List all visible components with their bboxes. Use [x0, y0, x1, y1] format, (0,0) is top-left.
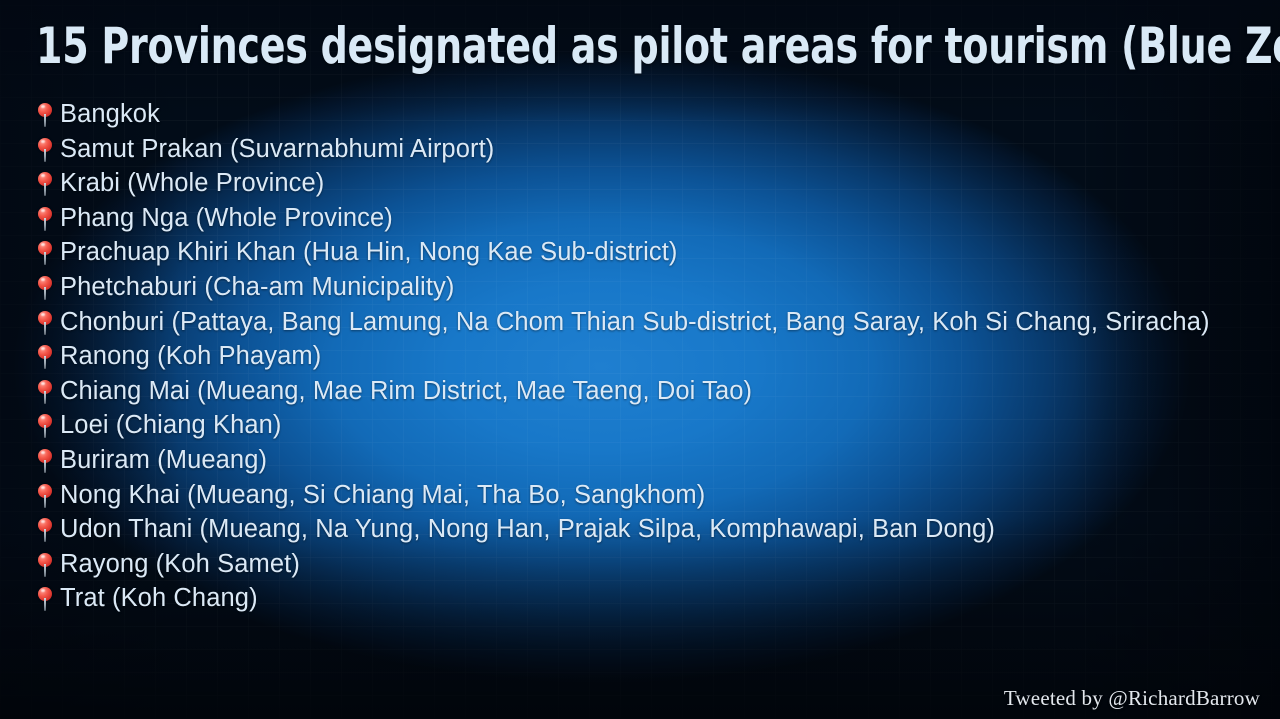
round-pushpin-icon	[34, 379, 57, 404]
list-item-label: Trat (Koh Chang)	[60, 584, 258, 612]
round-pushpin-icon	[34, 517, 57, 542]
round-pushpin-icon	[34, 344, 57, 369]
list-item-label: Udon Thani (Mueang, Na Yung, Nong Han, P…	[60, 515, 995, 543]
list-item: Udon Thani (Mueang, Na Yung, Nong Han, P…	[34, 512, 1246, 547]
list-item: Chiang Mai (Mueang, Mae Rim District, Ma…	[34, 374, 1246, 409]
round-pushpin-icon	[34, 275, 57, 300]
list-item: Prachuap Khiri Khan (Hua Hin, Nong Kae S…	[34, 235, 1246, 270]
list-item: Krabi (Whole Province)	[34, 166, 1246, 201]
presentation-slide: 15 Provinces designated as pilot areas f…	[0, 0, 1280, 719]
list-item: Nong Khai (Mueang, Si Chiang Mai, Tha Bo…	[34, 478, 1246, 513]
list-item: Phang Nga (Whole Province)	[34, 201, 1246, 236]
list-item-label: Rayong (Koh Samet)	[60, 550, 300, 578]
round-pushpin-icon	[34, 171, 57, 196]
list-item: Rayong (Koh Samet)	[34, 547, 1246, 582]
round-pushpin-icon	[34, 586, 57, 611]
round-pushpin-icon	[34, 102, 57, 127]
list-item-label: Prachuap Khiri Khan (Hua Hin, Nong Kae S…	[60, 238, 678, 266]
round-pushpin-icon	[34, 448, 57, 473]
list-item-label: Loei (Chiang Khan)	[60, 411, 282, 439]
list-item-label: Nong Khai (Mueang, Si Chiang Mai, Tha Bo…	[60, 481, 705, 509]
list-item-label: Phang Nga (Whole Province)	[60, 204, 393, 232]
list-item: Chonburi (Pattaya, Bang Lamung, Na Chom …	[34, 305, 1246, 340]
round-pushpin-icon	[34, 552, 57, 577]
list-item-label: Bangkok	[60, 100, 160, 128]
list-item: Loei (Chiang Khan)	[34, 408, 1246, 443]
round-pushpin-icon	[34, 137, 57, 162]
round-pushpin-icon	[34, 483, 57, 508]
round-pushpin-icon	[34, 310, 57, 335]
list-item: Samut Prakan (Suvarnabhumi Airport)	[34, 132, 1246, 167]
round-pushpin-icon	[34, 206, 57, 231]
list-item: Phetchaburi (Cha-am Municipality)	[34, 270, 1246, 305]
list-item-label: Phetchaburi (Cha-am Municipality)	[60, 273, 454, 301]
list-item: Trat (Koh Chang)	[34, 581, 1246, 616]
round-pushpin-icon	[34, 413, 57, 438]
list-item-label: Buriram (Mueang)	[60, 446, 267, 474]
credit-attribution: Tweeted by @RichardBarrow	[1004, 686, 1260, 711]
list-item-label: Chonburi (Pattaya, Bang Lamung, Na Chom …	[60, 308, 1210, 336]
list-item: Buriram (Mueang)	[34, 443, 1246, 478]
page-title: 15 Provinces designated as pilot areas f…	[36, 21, 1050, 71]
list-item-label: Krabi (Whole Province)	[60, 169, 324, 197]
list-item-label: Ranong (Koh Phayam)	[60, 342, 321, 370]
round-pushpin-icon	[34, 240, 57, 265]
list-item-label: Samut Prakan (Suvarnabhumi Airport)	[60, 135, 494, 163]
list-item: Bangkok	[34, 97, 1246, 132]
province-list: BangkokSamut Prakan (Suvarnabhumi Airpor…	[34, 97, 1246, 616]
list-item-label: Chiang Mai (Mueang, Mae Rim District, Ma…	[60, 377, 752, 405]
list-item: Ranong (Koh Phayam)	[34, 339, 1246, 374]
